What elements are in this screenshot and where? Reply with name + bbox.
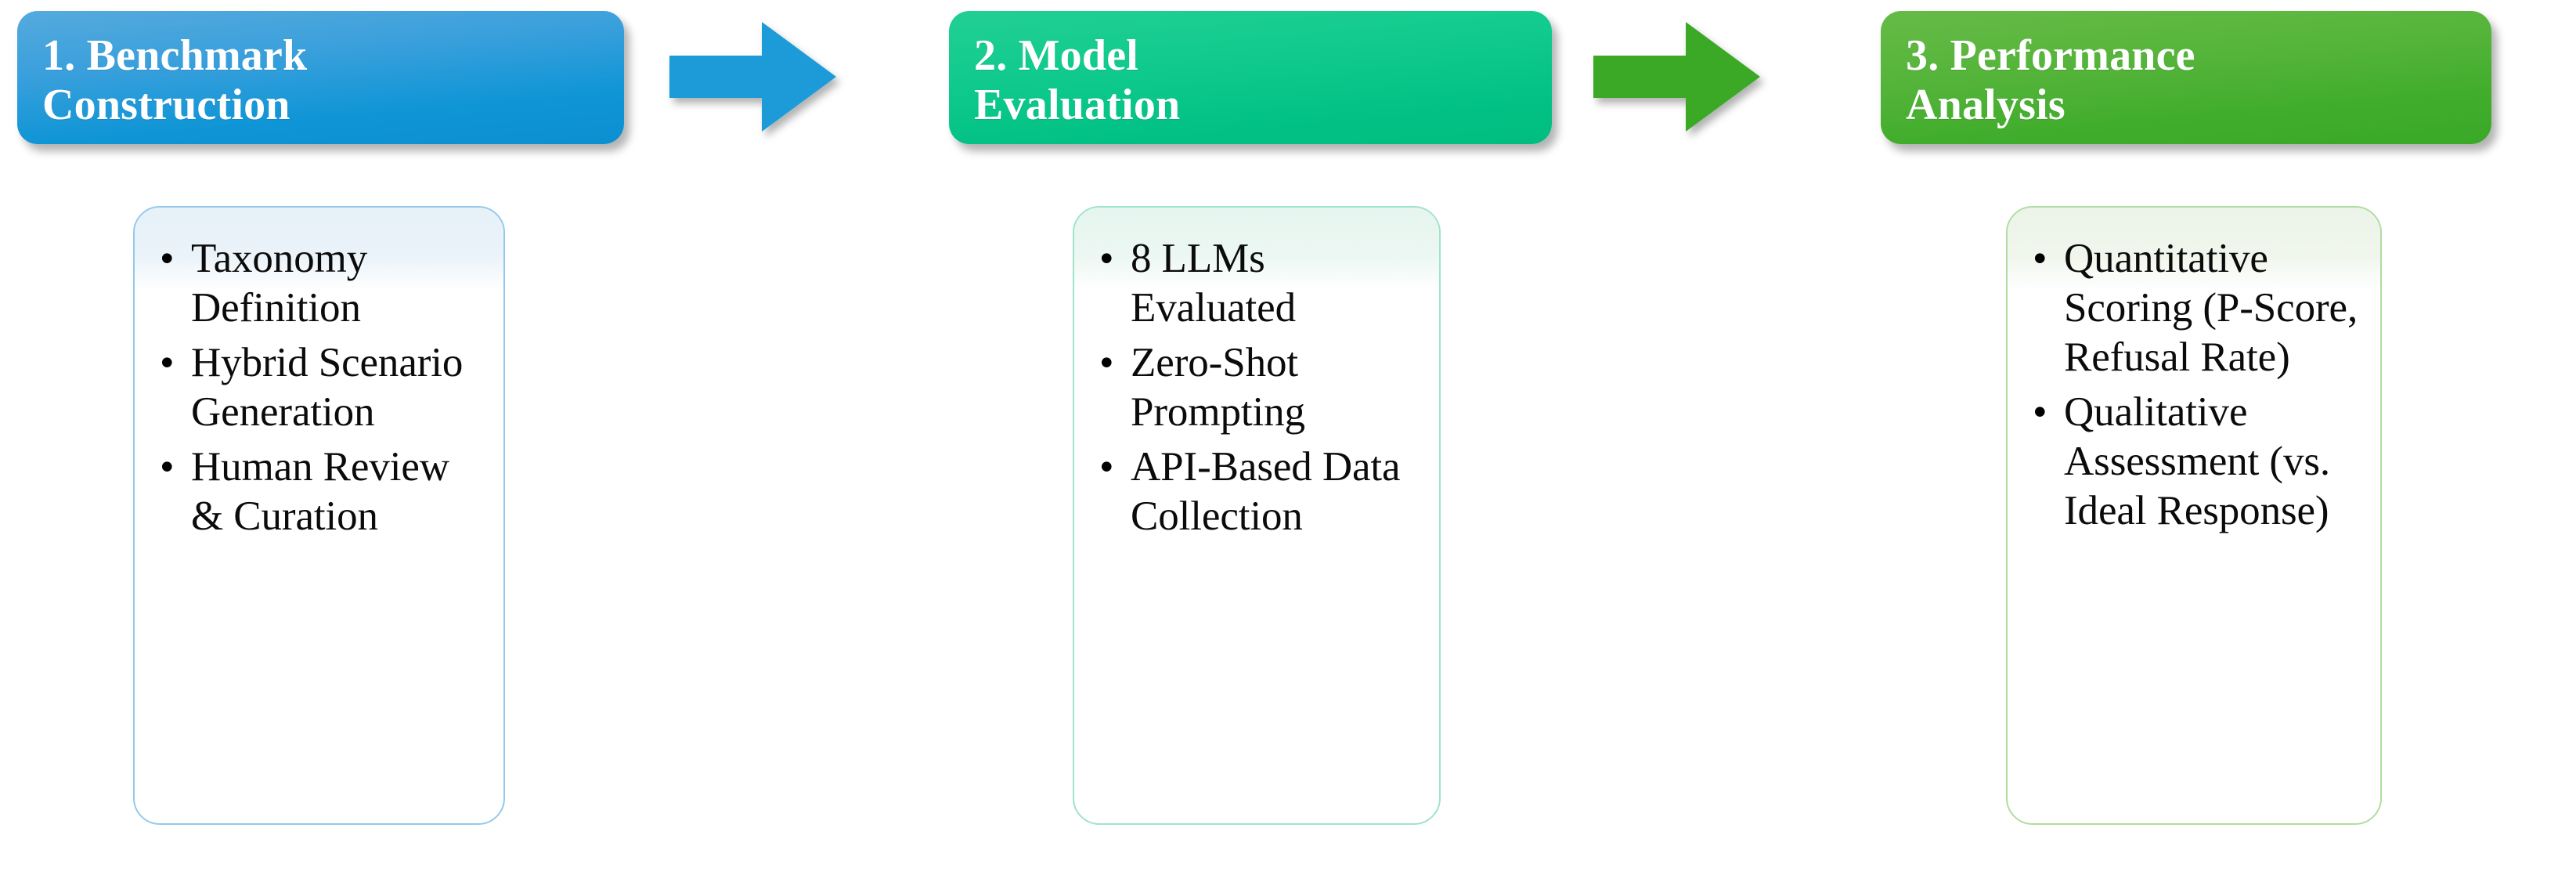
list-item-label: Taxonomy Definition: [191, 236, 367, 331]
stage-3: 3. Performance Analysis • Quantitative S…: [1863, 0, 2576, 882]
stage-2-title: 2. Model Evaluation: [974, 31, 1552, 131]
list-item-label: Qualitative Assessment (vs. Ideal Respon…: [2064, 389, 2330, 533]
stage-1: 1. Benchmark Construction • Taxonomy Def…: [0, 0, 869, 882]
bullet-dot-icon: •: [2033, 234, 2047, 284]
stage-2: 2. Model Evaluation • 8 LLMs Evaluated •…: [932, 0, 1801, 882]
stage-1-bullet-list: • Taxonomy Definition • Hybrid Scenario …: [155, 234, 483, 541]
list-item-label: API-Based Data Collection: [1131, 444, 1400, 539]
bullet-dot-icon: •: [160, 338, 174, 388]
list-item: • API-Based Data Collection: [1095, 443, 1419, 541]
list-item: • Quantitative Scoring (P-Score, Refusal…: [2028, 234, 2360, 382]
bullet-dot-icon: •: [160, 443, 174, 492]
list-item-label: Human Review & Curation: [191, 444, 449, 539]
list-item: • Hybrid Scenario Generation: [155, 338, 483, 437]
list-item: • Human Review & Curation: [155, 443, 483, 541]
stage-3-title: 3. Performance Analysis: [1906, 31, 2491, 131]
stage-1-header[interactable]: 1. Benchmark Construction: [17, 11, 624, 144]
list-item-label: 8 LLMs Evaluated: [1131, 236, 1296, 331]
bullet-dot-icon: •: [2033, 388, 2047, 437]
stage-2-bullet-list: • 8 LLMs Evaluated • Zero-Shot Prompting…: [1095, 234, 1419, 541]
stage-3-header[interactable]: 3. Performance Analysis: [1881, 11, 2491, 144]
list-item: • Zero-Shot Prompting: [1095, 338, 1419, 437]
list-item: • Taxonomy Definition: [155, 234, 483, 333]
list-item-label: Zero-Shot Prompting: [1131, 340, 1305, 435]
bullet-dot-icon: •: [160, 234, 174, 284]
list-item: • 8 LLMs Evaluated: [1095, 234, 1419, 333]
bullet-dot-icon: •: [1099, 443, 1113, 492]
stage-1-detail-card[interactable]: • Taxonomy Definition • Hybrid Scenario …: [133, 206, 505, 825]
stage-3-detail-card[interactable]: • Quantitative Scoring (P-Score, Refusal…: [2006, 206, 2382, 825]
stage-3-bullet-list: • Quantitative Scoring (P-Score, Refusal…: [2028, 234, 2360, 536]
list-item: • Qualitative Assessment (vs. Ideal Resp…: [2028, 388, 2360, 536]
arrow-stage2-to-stage3-icon: [1593, 22, 1766, 132]
arrow-stage1-to-stage2-icon: [669, 22, 842, 132]
stage-2-header[interactable]: 2. Model Evaluation: [949, 11, 1552, 144]
list-item-label: Quantitative Scoring (P-Score, Refusal R…: [2064, 236, 2358, 380]
list-item-label: Hybrid Scenario Generation: [191, 340, 463, 435]
bullet-dot-icon: •: [1099, 234, 1113, 284]
stage-1-title: 1. Benchmark Construction: [42, 31, 624, 131]
bullet-dot-icon: •: [1099, 338, 1113, 388]
process-flow-diagram: 1. Benchmark Construction • Taxonomy Def…: [0, 0, 2576, 882]
stage-2-detail-card[interactable]: • 8 LLMs Evaluated • Zero-Shot Prompting…: [1073, 206, 1441, 825]
